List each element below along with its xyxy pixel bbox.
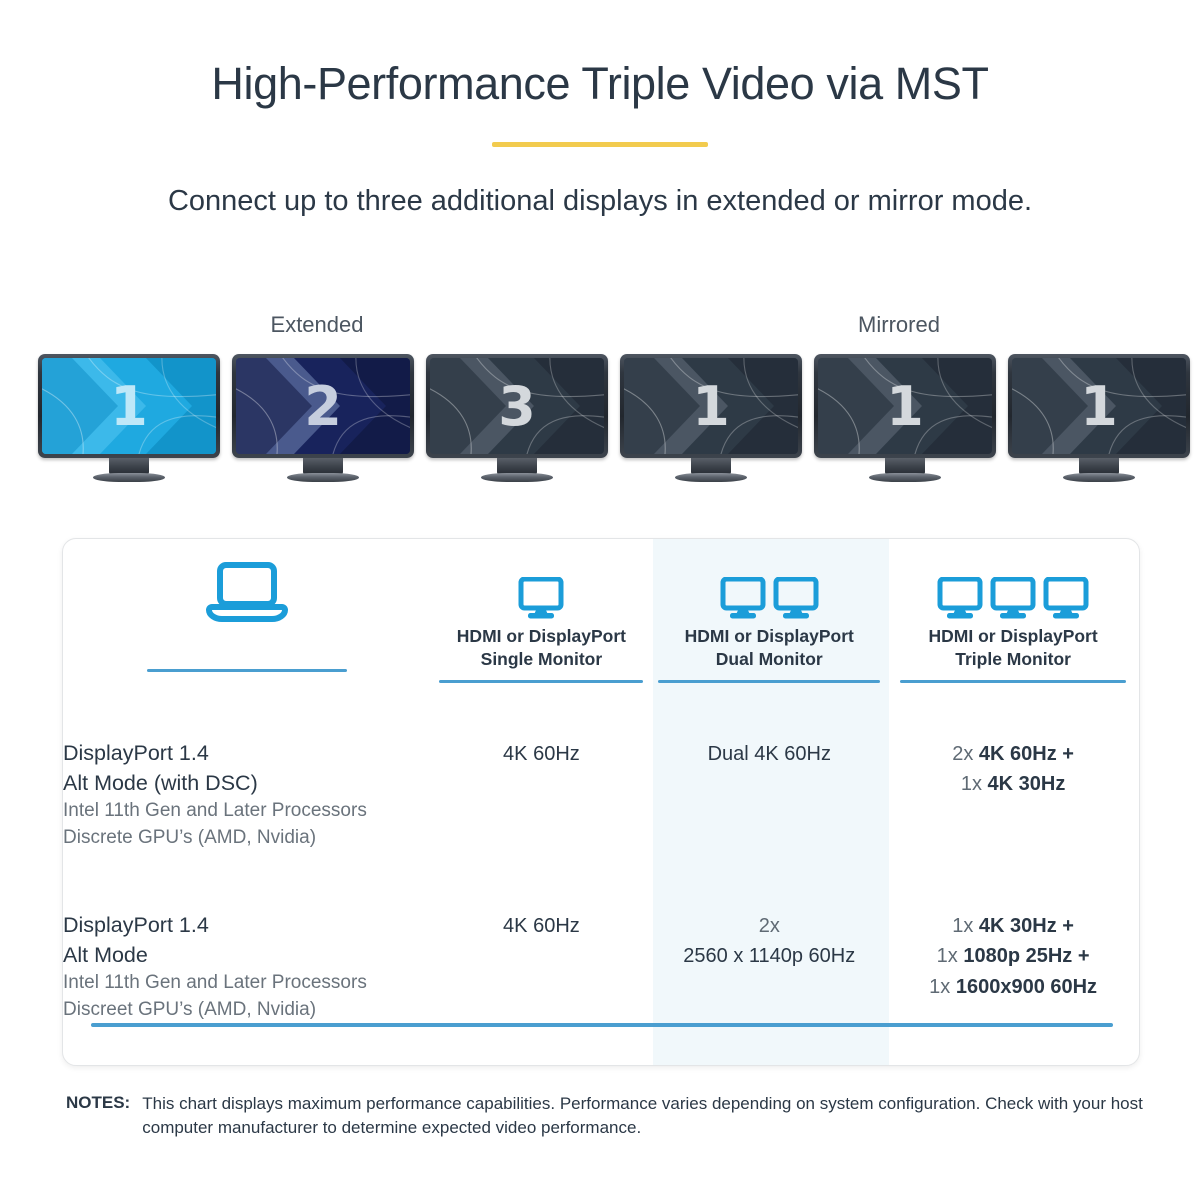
monitor-icon xyxy=(518,577,564,621)
header-cell-host xyxy=(63,539,431,721)
monitor-base xyxy=(1063,473,1135,482)
monitor-icon-group-dual xyxy=(651,539,887,625)
monitor-base xyxy=(481,473,553,482)
table-row: DisplayPort 1.4 Alt Mode (with DSC) Inte… xyxy=(63,721,1139,893)
monitor-bezel: 2 xyxy=(232,354,414,458)
monitor-bezel: 1 xyxy=(814,354,996,458)
header-rule xyxy=(658,680,880,683)
table-bottom-rule xyxy=(91,1023,1113,1027)
header-rule xyxy=(147,669,347,672)
page-title: High-Performance Triple Video via MST xyxy=(0,58,1200,110)
monitor-icon-group-triple xyxy=(887,539,1139,625)
page-subtitle: Connect up to three additional displays … xyxy=(0,185,1200,218)
monitor-illustration: 3 xyxy=(426,354,608,458)
monitor-group-label: Mirrored xyxy=(620,312,1178,338)
laptop-icon xyxy=(63,539,431,625)
monitor-group-extended: Extended 123 xyxy=(38,312,596,472)
mode-sub-line1: Intel 11th Gen and Later Processors xyxy=(63,798,431,825)
mode-name-line1: DisplayPort 1.4 xyxy=(63,911,431,941)
monitor-row: 123 xyxy=(38,354,608,458)
monitor-base xyxy=(869,473,941,482)
monitor-bezel: 3 xyxy=(426,354,608,458)
header-label-line2: Single Monitor xyxy=(431,648,651,671)
header-cell-triple-monitor: HDMI or DisplayPort Triple Monitor xyxy=(887,539,1139,721)
monitor-icon xyxy=(937,577,983,621)
cell-triple-monitor: 1x 4K 30Hz +1x 1080p 25Hz +1x 1600x900 6… xyxy=(887,893,1139,1029)
cell-triple-monitor: 2x 4K 60Hz +1x 4K 30Hz xyxy=(887,721,1139,893)
monitor-screen: 3 xyxy=(430,358,604,454)
monitor-base xyxy=(287,473,359,482)
row-mode-cell: DisplayPort 1.4 Alt Mode Intel 11th Gen … xyxy=(63,893,431,1029)
mode-sub-line1: Intel 11th Gen and Later Processors xyxy=(63,970,431,997)
header-cell-dual-monitor: HDMI or DisplayPort Dual Monitor xyxy=(651,539,887,721)
monitor-icon xyxy=(773,577,819,621)
monitor-bezel: 1 xyxy=(38,354,220,458)
compatibility-table: HDMI or DisplayPort Single Monitor HDMI … xyxy=(63,539,1139,1029)
cell-value: Dual 4K 60Hz xyxy=(651,739,887,769)
mode-name-line2: Alt Mode xyxy=(63,941,431,971)
notes-label: NOTES: xyxy=(66,1092,130,1113)
monitor-illustration: 2 xyxy=(232,354,414,458)
header-label-line1: HDMI or DisplayPort xyxy=(887,625,1139,648)
header-label-line1: HDMI or DisplayPort xyxy=(431,625,651,648)
row-mode-cell: DisplayPort 1.4 Alt Mode (with DSC) Inte… xyxy=(63,721,431,893)
monitor-illustration: 1 xyxy=(620,354,802,458)
header-cell-single-monitor: HDMI or DisplayPort Single Monitor xyxy=(431,539,651,721)
monitor-number: 3 xyxy=(430,358,604,454)
monitor-base xyxy=(93,473,165,482)
table-row: DisplayPort 1.4 Alt Mode Intel 11th Gen … xyxy=(63,893,1139,1029)
cell-dual-monitor: Dual 4K 60Hz xyxy=(651,721,887,893)
compatibility-table-card: HDMI or DisplayPort Single Monitor HDMI … xyxy=(62,538,1140,1066)
monitor-number: 1 xyxy=(818,358,992,454)
monitor-bezel: 1 xyxy=(1008,354,1190,458)
notes-block: NOTES: This chart displays maximum perfo… xyxy=(66,1092,1166,1140)
title-underline-rule xyxy=(492,142,708,147)
monitor-screen: 1 xyxy=(42,358,216,454)
header-label-line1: HDMI or DisplayPort xyxy=(651,625,887,648)
cell-value: 4K 60Hz xyxy=(431,739,651,769)
cell-value: 4K 60Hz xyxy=(431,911,651,941)
monitor-icon xyxy=(720,577,766,621)
mode-sub-line2: Discreet GPU’s (AMD, Nvidia) xyxy=(63,997,431,1024)
notes-text: This chart displays maximum performance … xyxy=(142,1092,1154,1140)
monitor-base xyxy=(675,473,747,482)
mode-name-line1: DisplayPort 1.4 xyxy=(63,739,431,769)
cell-single-monitor: 4K 60Hz xyxy=(431,893,651,1029)
cell-single-monitor: 4K 60Hz xyxy=(431,721,651,893)
monitor-icon xyxy=(990,577,1036,621)
infographic-page: High-Performance Triple Video via MST Co… xyxy=(0,0,1200,1200)
monitor-number: 2 xyxy=(236,358,410,454)
mode-sub-line2: Discrete GPU’s (AMD, Nvidia) xyxy=(63,825,431,852)
monitor-screen: 1 xyxy=(818,358,992,454)
cell-value: 2x2560 x 1140p 60Hz xyxy=(651,911,887,972)
monitor-illustration: 1 xyxy=(38,354,220,458)
monitor-screen: 1 xyxy=(624,358,798,454)
cell-value: 2x 4K 60Hz +1x 4K 30Hz xyxy=(887,739,1139,800)
table-header-row: HDMI or DisplayPort Single Monitor HDMI … xyxy=(63,539,1139,721)
header-label-line2: Dual Monitor xyxy=(651,648,887,671)
monitor-group-mirrored: Mirrored 111 xyxy=(620,312,1178,472)
monitor-illustration: 1 xyxy=(814,354,996,458)
cell-dual-monitor: 2x2560 x 1140p 60Hz xyxy=(651,893,887,1029)
cell-value: 1x 4K 30Hz +1x 1080p 25Hz +1x 1600x900 6… xyxy=(887,911,1139,1002)
monitor-illustration: 1 xyxy=(1008,354,1190,458)
monitor-icon xyxy=(1043,577,1089,621)
header-rule xyxy=(900,680,1126,683)
monitor-group-label: Extended xyxy=(38,312,596,338)
monitor-number: 1 xyxy=(1012,358,1186,454)
header-rule xyxy=(439,680,643,683)
monitor-icon-group-single xyxy=(431,539,651,625)
monitor-screen: 1 xyxy=(1012,358,1186,454)
monitor-row: 111 xyxy=(620,354,1190,458)
mode-name-line2: Alt Mode (with DSC) xyxy=(63,769,431,799)
monitor-screen: 2 xyxy=(236,358,410,454)
header-label-line2: Triple Monitor xyxy=(887,648,1139,671)
monitor-bezel: 1 xyxy=(620,354,802,458)
monitor-number: 1 xyxy=(624,358,798,454)
monitor-number: 1 xyxy=(42,358,216,454)
